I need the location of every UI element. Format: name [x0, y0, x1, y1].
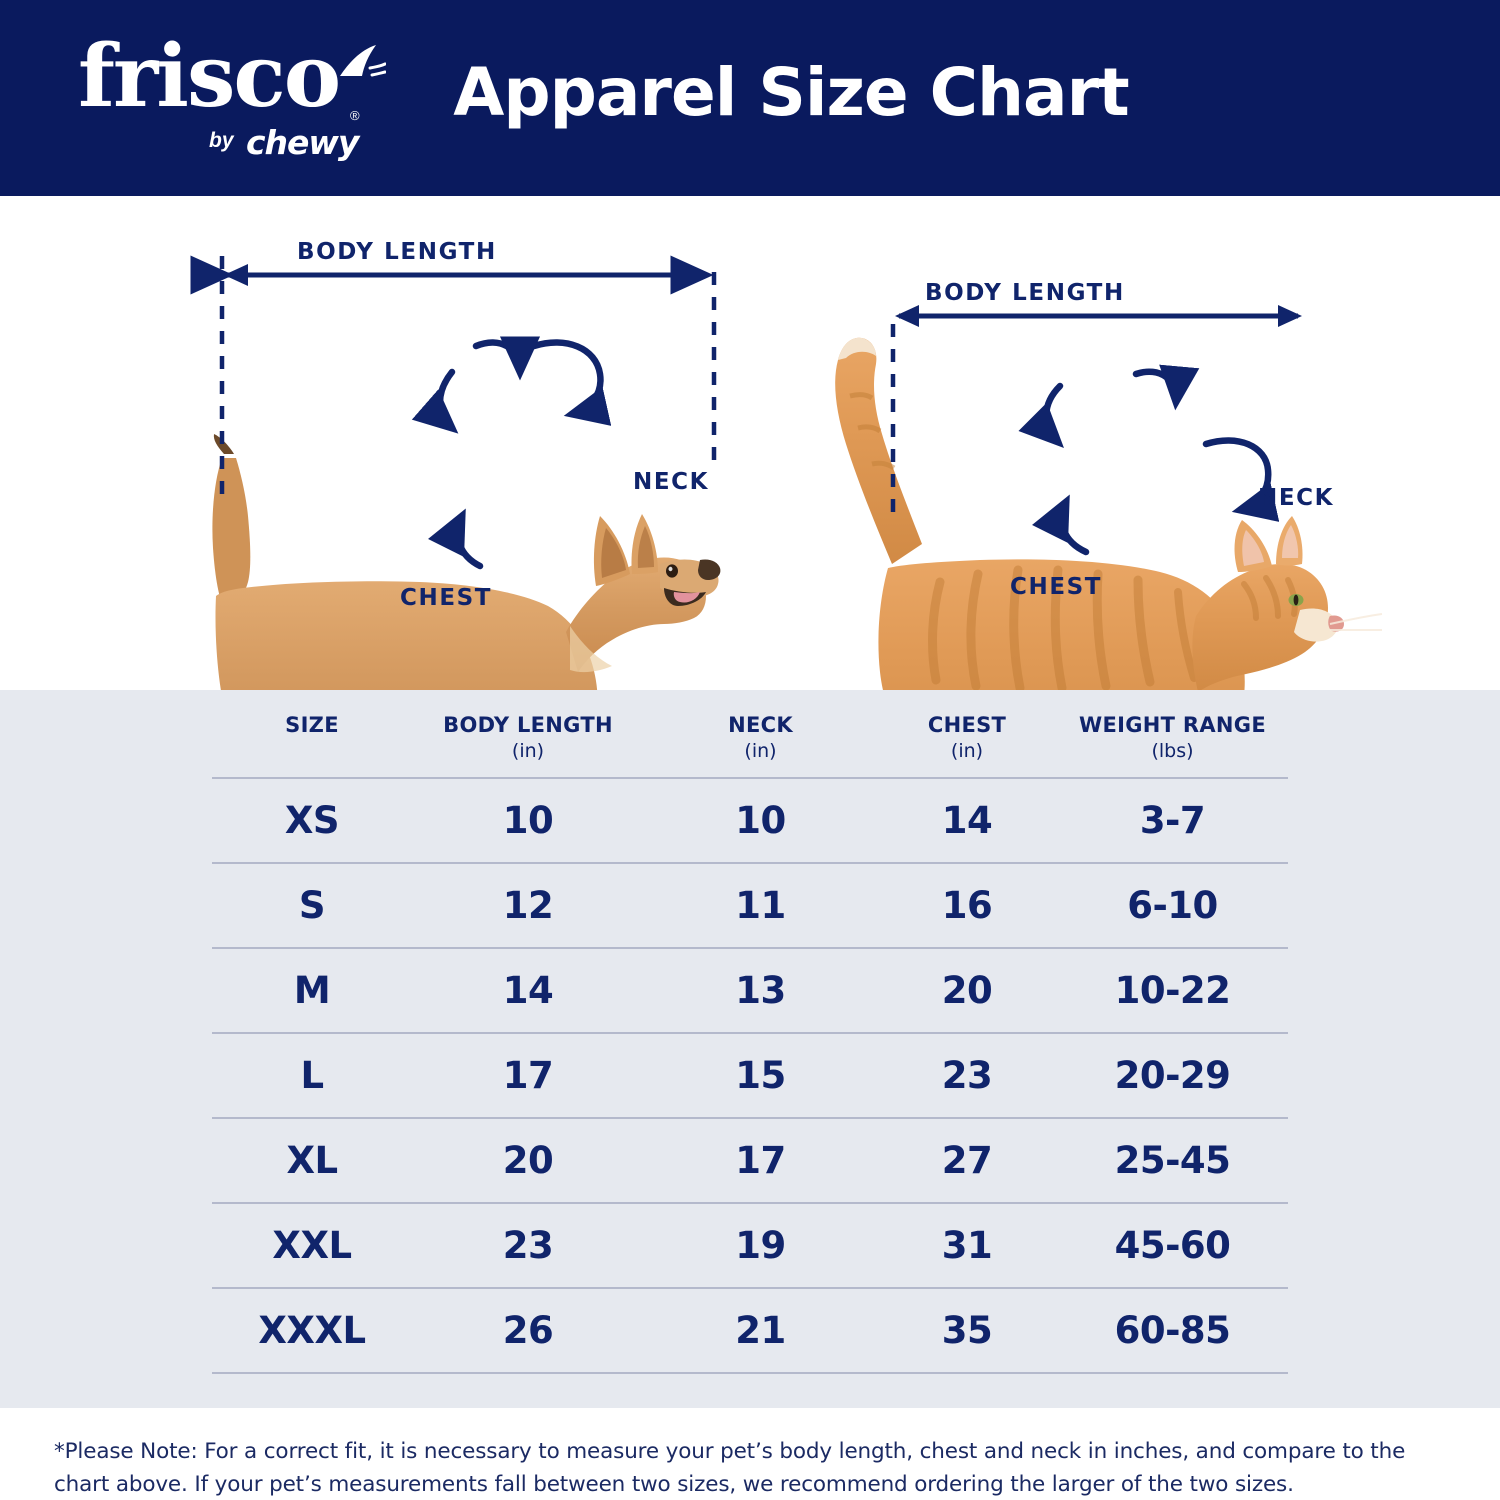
cell-weight-range: 10-22 [1057, 948, 1288, 1033]
table-body: XS 10 10 14 3-7 S 12 11 16 6-10 M 14 13 [212, 778, 1288, 1373]
page-title: Apparel Size Chart [0, 54, 1500, 131]
cell-body-length: 20 [412, 1118, 644, 1203]
logo-by-text: by [209, 129, 234, 153]
table-row: XS 10 10 14 3-7 [212, 778, 1288, 863]
cell-neck: 13 [644, 948, 877, 1033]
column-header-chest-unit: (in) [877, 739, 1057, 763]
column-header-neck-unit: (in) [644, 739, 877, 763]
column-header-body-length-label: BODY LENGTH [443, 713, 613, 737]
dog-chest-arrow-upper-right [476, 342, 520, 372]
illustration-area: BODY LENGTH NECK CHEST BODY LENGTH NECK … [0, 196, 1500, 690]
apparel-size-chart-page: frisco ® by chewy Apparel Size Chart [0, 0, 1500, 1500]
cell-weight-range: 20-29 [1057, 1033, 1288, 1118]
dog-body-length-label: BODY LENGTH [297, 239, 497, 265]
column-header-chest: CHEST (in) [877, 690, 1057, 778]
cat-body-length-label: BODY LENGTH [925, 280, 1125, 306]
table-row: M 14 13 20 10-22 [212, 948, 1288, 1033]
cell-size: XXXL [212, 1288, 412, 1373]
dog-chest-arrow-lower [458, 516, 480, 566]
cell-body-length: 26 [412, 1288, 644, 1373]
cat-illustration [835, 338, 1382, 690]
cat-neck-label: NECK [1258, 485, 1334, 511]
cell-chest: 35 [877, 1288, 1057, 1373]
cell-chest: 27 [877, 1118, 1057, 1203]
header-band: frisco ® by chewy Apparel Size Chart [0, 0, 1500, 196]
table-header-row: SIZE BODY LENGTH (in) NECK (in) CHEST (i… [212, 690, 1288, 778]
cat-chest-label: CHEST [1010, 574, 1102, 600]
cell-neck: 17 [644, 1118, 877, 1203]
column-header-chest-label: CHEST [928, 713, 1006, 737]
cell-neck: 21 [644, 1288, 877, 1373]
cell-chest: 14 [877, 778, 1057, 863]
cat-chest-arrow-upper-right [1136, 372, 1176, 402]
cell-chest: 20 [877, 948, 1057, 1033]
column-header-weight-range: WEIGHT RANGE (lbs) [1057, 690, 1288, 778]
cell-weight-range: 25-45 [1057, 1118, 1288, 1203]
cell-neck: 19 [644, 1203, 877, 1288]
column-header-size-label: SIZE [285, 713, 339, 737]
cell-body-length: 23 [412, 1203, 644, 1288]
cat-chest-arrow-upper-left [1046, 386, 1060, 442]
cell-chest: 31 [877, 1203, 1057, 1288]
column-header-weight-range-unit: (lbs) [1057, 739, 1288, 763]
cell-chest: 16 [877, 863, 1057, 948]
cell-weight-range: 60-85 [1057, 1288, 1288, 1373]
table-row: XXL 23 19 31 45-60 [212, 1203, 1288, 1288]
column-header-neck: NECK (in) [644, 690, 877, 778]
cell-body-length: 12 [412, 863, 644, 948]
cell-neck: 11 [644, 863, 877, 948]
column-header-body-length-unit: (in) [412, 739, 644, 763]
table-row: S 12 11 16 6-10 [212, 863, 1288, 948]
cell-size: M [212, 948, 412, 1033]
table-row: L 17 15 23 20-29 [212, 1033, 1288, 1118]
cell-body-length: 10 [412, 778, 644, 863]
column-header-body-length: BODY LENGTH (in) [412, 690, 644, 778]
cell-weight-range: 3-7 [1057, 778, 1288, 863]
column-header-weight-range-label: WEIGHT RANGE [1079, 713, 1266, 737]
table-row: XXXL 26 21 35 60-85 [212, 1288, 1288, 1373]
cell-size: XS [212, 778, 412, 863]
column-header-size: SIZE [212, 690, 412, 778]
cell-size: XL [212, 1118, 412, 1203]
cell-body-length: 14 [412, 948, 644, 1033]
cell-body-length: 17 [412, 1033, 644, 1118]
dog-neck-label: NECK [633, 469, 709, 495]
cell-neck: 10 [644, 778, 877, 863]
footnote-area: *Please Note: For a correct fit, it is n… [0, 1408, 1500, 1500]
cat-chest-arrow-lower [1062, 502, 1086, 552]
dog-neck-arrow [534, 342, 600, 414]
footnote-text: *Please Note: For a correct fit, it is n… [0, 1408, 1500, 1500]
cell-chest: 23 [877, 1033, 1057, 1118]
cell-size: L [212, 1033, 412, 1118]
cell-size: XXL [212, 1203, 412, 1288]
dog-chest-label: CHEST [400, 585, 492, 611]
cell-size: S [212, 863, 412, 948]
dog-chest-arrow-upper-left [440, 372, 452, 428]
pet-measurement-illustrations [0, 196, 1500, 690]
cell-weight-range: 6-10 [1057, 863, 1288, 948]
cell-neck: 15 [644, 1033, 877, 1118]
cell-weight-range: 45-60 [1057, 1203, 1288, 1288]
table-row: XL 20 17 27 25-45 [212, 1118, 1288, 1203]
column-header-neck-label: NECK [728, 713, 793, 737]
size-table-area: SIZE BODY LENGTH (in) NECK (in) CHEST (i… [0, 690, 1500, 1408]
apparel-size-table: SIZE BODY LENGTH (in) NECK (in) CHEST (i… [212, 690, 1288, 1374]
